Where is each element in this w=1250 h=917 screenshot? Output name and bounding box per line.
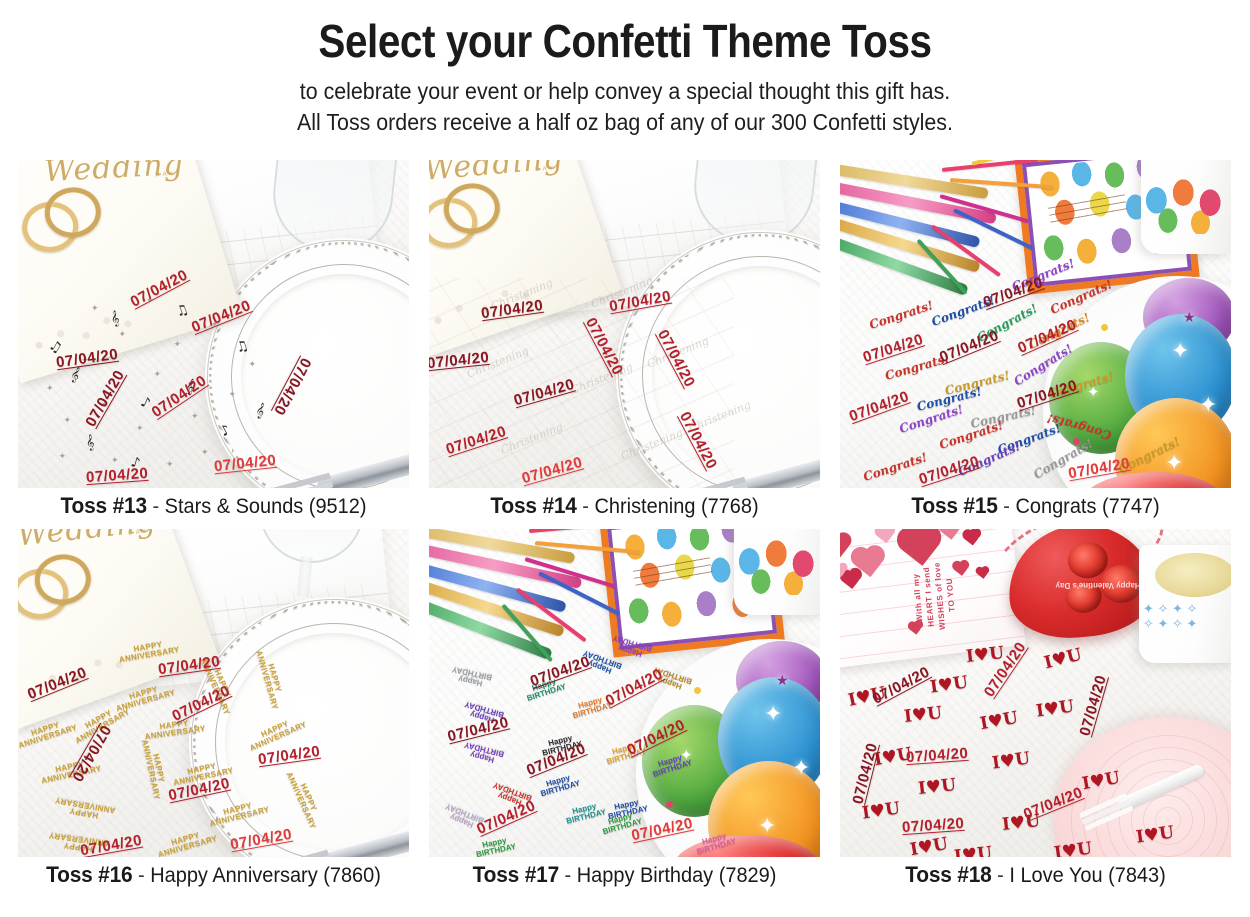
- toss-number: Toss #13: [61, 493, 147, 518]
- product-photo-congrats[interactable]: ✦ ✦ ✦ ✦ ★ Congrats! Congrats! Congrats! …: [840, 160, 1231, 488]
- caption-dash: -: [152, 495, 159, 518]
- product-caption: Toss #13 - Stars & Sounds (9512): [28, 488, 399, 523]
- wedding-rings-icon: [18, 179, 120, 269]
- product-caption: Toss #17 - Happy Birthday (7829): [439, 857, 810, 892]
- toss-description: Christening (7768): [595, 495, 759, 518]
- product-tile-toss-13[interactable]: HAPPY Wedding DAY ✦ ✦ ✦ ✦ ✦ ✦ ✦: [18, 160, 409, 523]
- wedding-rings-icon: [429, 175, 519, 265]
- product-tile-toss-17[interactable]: ✦ ✦ ✦ ✦ ★ HappyBIRTHDAY HappyBIRTHDAY Ha…: [429, 529, 820, 892]
- caption-dash: -: [582, 495, 589, 518]
- product-photo-happy-anniversary[interactable]: HAPPY Wedding DAY HAPPYANNIVERSARY HAPPY…: [18, 529, 409, 857]
- party-cup: [1141, 160, 1231, 254]
- poster-page: Select your Confetti Theme Toss to celeb…: [0, 0, 1250, 917]
- word-confetti: I♥U: [903, 703, 943, 727]
- mug-star-pattern: ✦ ✧ ✦ ✧✧ ✦ ✧ ✦: [1143, 601, 1231, 653]
- heart-gift-box: Happy Valentine's Day: [1003, 529, 1160, 644]
- toss-number: Toss #17: [473, 862, 559, 887]
- product-tile-toss-18[interactable]: With all my HEART I send WISHES of love …: [840, 529, 1231, 892]
- party-cup: [734, 529, 820, 615]
- caption-dash: -: [1003, 495, 1010, 518]
- product-tile-toss-15[interactable]: ✦ ✦ ✦ ✦ ★ Congrats! Congrats! Congrats! …: [840, 160, 1231, 523]
- product-caption: Toss #15 - Congrats (7747): [850, 488, 1221, 523]
- toss-description: Stars & Sounds (9512): [165, 495, 367, 518]
- valentine-card-message: With all my HEART I send WISHES of love …: [910, 557, 960, 635]
- caption-dash: -: [997, 864, 1004, 887]
- product-photo-stars-and-sounds[interactable]: HAPPY Wedding DAY ✦ ✦ ✦ ✦ ✦ ✦ ✦: [18, 160, 409, 488]
- page-subtitle: to celebrate your event or help convey a…: [44, 76, 1207, 138]
- product-tile-toss-16[interactable]: HAPPY Wedding DAY HAPPYANNIVERSARY HAPPY…: [18, 529, 409, 892]
- toss-number: Toss #18: [905, 862, 991, 887]
- toss-description: Happy Anniversary (7860): [150, 864, 381, 887]
- product-photo-happy-birthday[interactable]: ✦ ✦ ✦ ✦ ★ HappyBIRTHDAY HappyBIRTHDAY Ha…: [429, 529, 820, 857]
- product-caption: Toss #14 - Christening (7768): [439, 488, 810, 523]
- invite-day-label: DAY: [155, 171, 176, 178]
- word-confetti: I♥U: [917, 775, 957, 799]
- toss-description: Happy Birthday (7829): [577, 864, 777, 887]
- caption-dash: -: [565, 864, 572, 887]
- wedding-rings-icon: [18, 546, 110, 636]
- subtitle-line-1: to celebrate your event or help convey a…: [44, 76, 1207, 107]
- product-tile-toss-14[interactable]: HAPPY Wedding DAY Christening Christenin…: [429, 160, 820, 523]
- product-photo-christening[interactable]: HAPPY Wedding DAY Christening Christenin…: [429, 160, 820, 488]
- party-horns: [429, 529, 640, 657]
- poster-header: Select your Confetti Theme Toss to celeb…: [0, 0, 1250, 138]
- product-photo-i-love-you[interactable]: With all my HEART I send WISHES of love …: [840, 529, 1231, 857]
- product-grid: HAPPY Wedding DAY ✦ ✦ ✦ ✦ ✦ ✦ ✦: [18, 160, 1232, 892]
- toss-number: Toss #14: [490, 493, 576, 518]
- product-caption: Toss #16 - Happy Anniversary (7860): [28, 857, 399, 892]
- toss-description: I Love You (7843): [1009, 864, 1165, 887]
- toss-number: Toss #15: [911, 493, 997, 518]
- subtitle-line-2: All Toss orders receive a half oz bag of…: [44, 107, 1207, 138]
- coffee-mug: ✦ ✧ ✦ ✧✧ ✦ ✧ ✦: [1139, 545, 1231, 663]
- caption-dash: -: [138, 864, 145, 887]
- toss-description: Congrats (7747): [1015, 495, 1159, 518]
- page-title: Select your Confetti Theme Toss: [75, 14, 1175, 68]
- toss-number: Toss #16: [46, 862, 132, 887]
- product-caption: Toss #18 - I Love You (7843): [850, 857, 1221, 892]
